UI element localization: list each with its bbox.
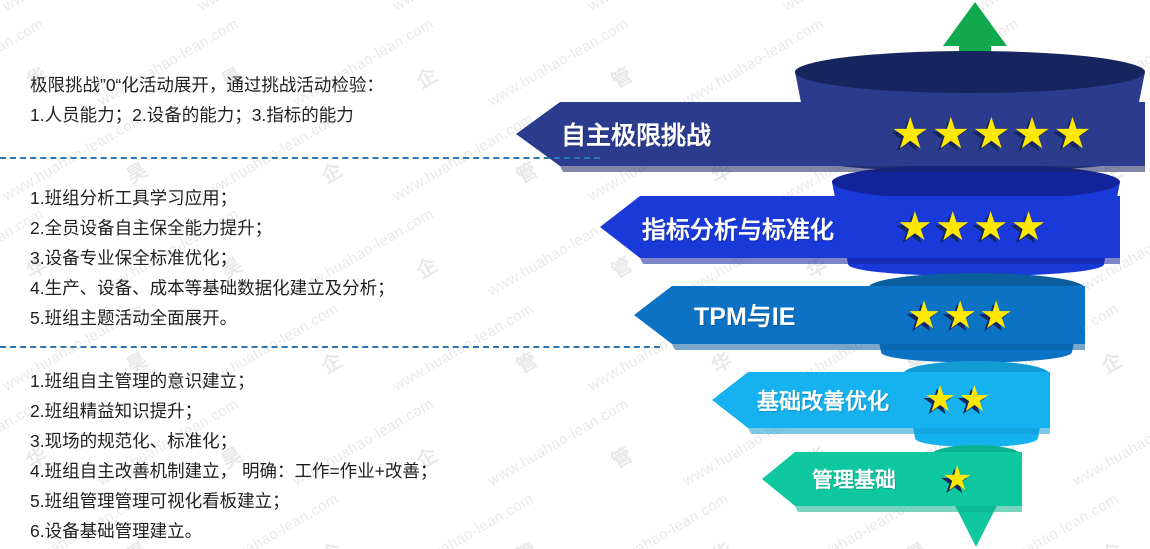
star-icon: ★: [891, 113, 930, 156]
star-icon: ★: [935, 207, 971, 247]
tier-5-label: 管理基础: [812, 464, 896, 494]
star-icon: ★: [958, 382, 990, 418]
description-line: 3.设备专业保全标准优化；: [30, 243, 395, 273]
star-icon: ★: [972, 113, 1011, 156]
description-line: 1.班组分析工具学习应用；: [30, 183, 395, 213]
star-icon: ★: [979, 296, 1013, 334]
funnel-tier-5[interactable]: 管理基础 ★: [762, 452, 1022, 506]
tier-1-label: 自主极限挑战: [561, 116, 711, 152]
description-column: 极限挑战”0“化活动展开，通过挑战活动检验：1.人员能力；2.设备的能力；3.指…: [0, 0, 540, 549]
star-icon: ★: [932, 113, 971, 156]
funnel-tier-3[interactable]: TPM与IE ★★★: [634, 286, 1085, 344]
star-icon: ★: [897, 207, 933, 247]
star-icon: ★: [907, 296, 941, 334]
star-icon: ★: [973, 207, 1009, 247]
description-line: 5.班组管理管理可视化看板建立；: [30, 486, 437, 516]
tier-3-rating: ★★★: [907, 296, 1013, 334]
description-line: 1.人员能力；2.设备的能力；3.指标的能力: [30, 100, 384, 130]
description-line: 4.生产、设备、成本等基础数据化建立及分析；: [30, 273, 395, 303]
tier-2-label: 指标分析与标准化: [642, 210, 834, 245]
star-icon: ★: [1013, 113, 1052, 156]
star-icon: ★: [942, 462, 972, 496]
description-line: 极限挑战”0“化活动展开，通过挑战活动检验：: [30, 70, 384, 100]
diagram-canvas: www.huahao-lean.com华www.huahao-lean.com昊…: [0, 0, 1150, 549]
tier-3-label: TPM与IE: [694, 297, 795, 333]
description-line: 2.全员设备自主保全能力提升；: [30, 213, 395, 243]
description-line: 4.班组自主改善机制建立， 明确：工作=作业+改善；: [30, 456, 437, 486]
funnel-tier-4[interactable]: 基础改善优化 ★★: [712, 372, 1050, 428]
description-line: 2.班组精益知识提升；: [30, 396, 437, 426]
description-line: 5.班组主题活动全面展开。: [30, 303, 395, 333]
description-line: 6.设备基础管理建立。: [30, 516, 437, 546]
star-icon: ★: [943, 296, 977, 334]
middle-stage-description: 1.班组分析工具学习应用；2.全员设备自主保全能力提升；3.设备专业保全标准优化…: [30, 183, 395, 333]
description-line: 1.班组自主管理的意识建立；: [30, 366, 437, 396]
description-line: 3.现场的规范化、标准化；: [30, 426, 437, 456]
tier-4-label: 基础改善优化: [757, 384, 889, 416]
tier-5-rating: ★: [942, 462, 972, 496]
funnel-tier-1[interactable]: 自主极限挑战 ★★★★★: [516, 102, 1145, 166]
tier-1-rating: ★★★★★: [891, 113, 1092, 156]
tier-2-rating: ★★★★: [897, 207, 1046, 247]
star-icon: ★: [1011, 207, 1047, 247]
funnel-tier-2[interactable]: 指标分析与标准化 ★★★★: [600, 196, 1120, 258]
tier-4-rating: ★★: [924, 382, 991, 418]
top-stage-description: 极限挑战”0“化活动展开，通过挑战活动检验：1.人员能力；2.设备的能力；3.指…: [30, 70, 384, 130]
star-icon: ★: [924, 382, 956, 418]
star-icon: ★: [1053, 113, 1092, 156]
bottom-stage-description: 1.班组自主管理的意识建立；2.班组精益知识提升；3.现场的规范化、标准化；4.…: [30, 366, 437, 546]
